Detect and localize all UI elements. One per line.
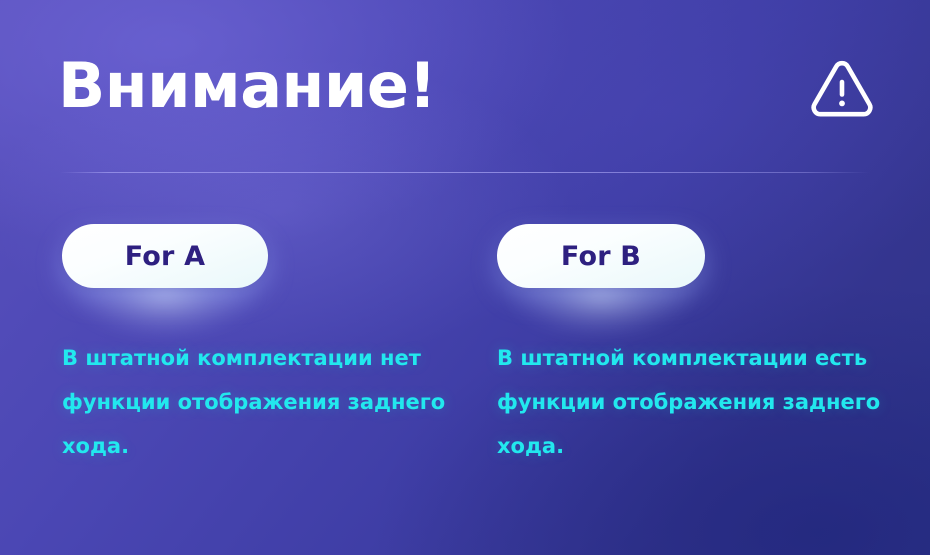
page-title: Внимание! <box>58 55 436 117</box>
for-a-description: В штатной комплектации нет функции отобр… <box>62 336 447 468</box>
for-a-button[interactable]: For A <box>62 224 268 288</box>
column-for-a: For A В штатной комплектации нет функции… <box>62 224 462 468</box>
button-wrapper-for-b: For B <box>497 224 705 288</box>
warning-triangle-icon <box>810 60 874 120</box>
for-b-description: В штатной комплектации есть функции отоб… <box>497 336 889 468</box>
for-a-button-label: For A <box>125 241 206 272</box>
for-b-button-label: For B <box>561 241 641 272</box>
column-for-b: For B В штатной комплектации есть функци… <box>497 224 897 468</box>
for-b-button[interactable]: For B <box>497 224 705 288</box>
warning-slide: Внимание! For A В штатной комплектации н… <box>0 0 930 555</box>
header-divider <box>60 172 870 173</box>
button-wrapper-for-a: For A <box>62 224 268 288</box>
